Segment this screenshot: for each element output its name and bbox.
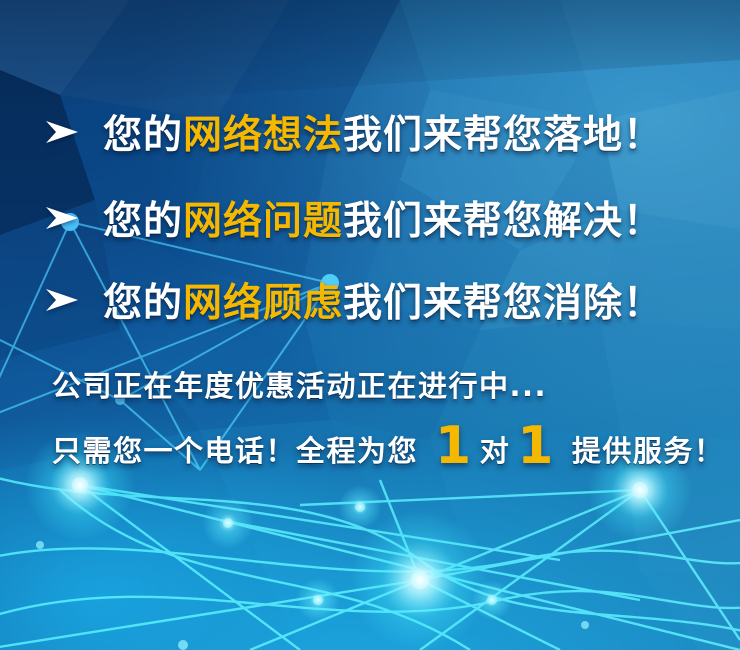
subheadline-row-1: 公司正在年度优惠活动正在进行中...	[52, 363, 547, 405]
headline-3-part-1: 您的	[103, 281, 183, 326]
headline-1-highlight: 网络想法	[183, 113, 343, 158]
headline-row-1: 您的网络想法我们来帮您落地！	[45, 104, 663, 160]
headline-1-part-3: 我们来帮您落地！	[343, 113, 663, 158]
headline-row-3: 您的网络顾虑我们来帮您消除！	[45, 272, 663, 328]
headline-text-2: 您的网络问题我们来帮您解决！	[103, 190, 663, 246]
subheadline-2-lead: 只需您一个电话！全程为您	[52, 434, 418, 468]
headline-2-highlight: 网络问题	[183, 199, 343, 244]
headline-text-1: 您的网络想法我们来帮您落地！	[103, 104, 663, 160]
subheadline-row-2: 只需您一个电话！全程为您1对1提供服务！	[52, 428, 724, 470]
arrow-right-triangle-icon	[45, 205, 79, 231]
headline-2-part-1: 您的	[103, 199, 183, 244]
service-number-second: 1	[510, 416, 562, 476]
headline-text-3: 您的网络顾虑我们来帮您消除！	[103, 272, 663, 328]
arrow-right-triangle-icon	[45, 119, 79, 145]
subheadline-2-middle: 对	[480, 434, 511, 468]
headline-2-part-3: 我们来帮您解决！	[343, 199, 663, 244]
service-number-first: 1	[428, 416, 480, 476]
headline-3-part-3: 我们来帮您消除！	[343, 281, 663, 326]
headline-1-part-1: 您的	[103, 113, 183, 158]
headline-3-highlight: 网络顾虑	[183, 281, 343, 326]
subheadline-text-1: 公司正在年度优惠活动正在进行中...	[52, 363, 547, 405]
headline-row-2: 您的网络问题我们来帮您解决！	[45, 190, 663, 246]
promo-banner: 您的网络想法我们来帮您落地！ 您的网络问题我们来帮您解决！ 您的网络顾虑我们来帮…	[0, 0, 740, 650]
subheadline-2-tail: 提供服务！	[572, 434, 725, 468]
arrow-right-triangle-icon	[45, 287, 79, 313]
subheadline-text-2: 只需您一个电话！全程为您1对1提供服务！	[52, 428, 724, 470]
